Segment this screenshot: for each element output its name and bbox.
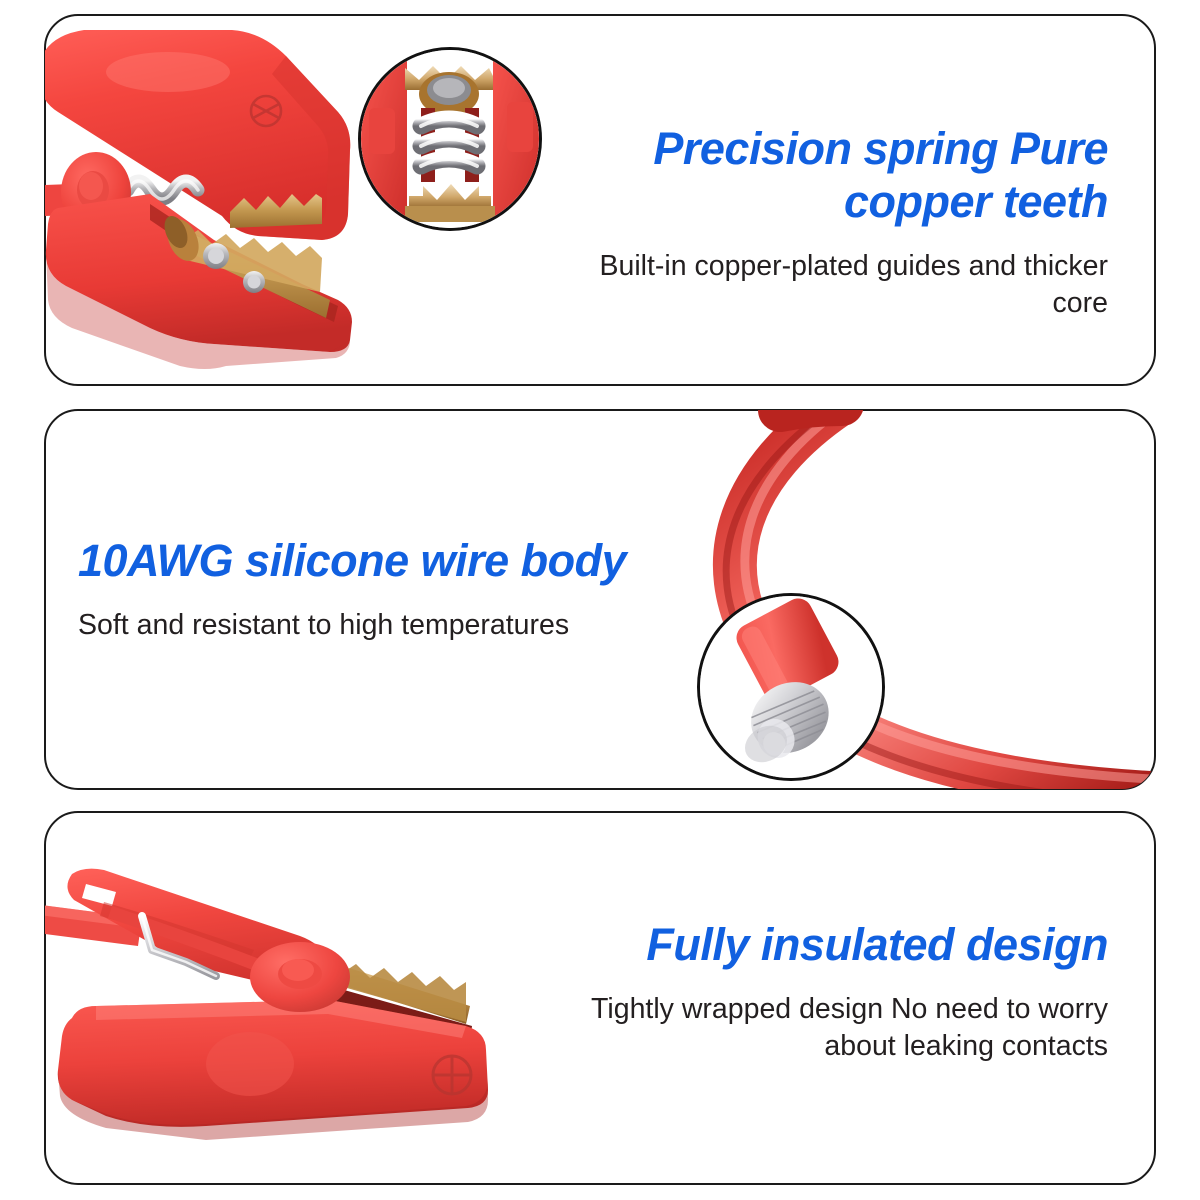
infographic-page: Precision spring Pure copper teeth Built… (0, 0, 1200, 1200)
panel-2-headline: 10AWG silicone wire body (78, 534, 700, 587)
panel-1-subline: Built-in copper-plated guides and thicke… (566, 248, 1108, 322)
panel-1-text-block: Precision spring Pure copper teeth Built… (566, 122, 1108, 322)
panel-2-text-block: 10AWG silicone wire body Soft and resist… (78, 534, 700, 644)
panel-3-text-block: Fully insulated design Tightly wrapped d… (530, 918, 1108, 1065)
spring-and-copper-teeth-closeup-inset (358, 47, 542, 231)
panel-3-subline: Tightly wrapped design No need to worry … (530, 991, 1108, 1065)
panel-2-subline: Soft and resistant to high temperatures (78, 607, 700, 644)
tinned-copper-strand-cross-section-inset (697, 593, 885, 781)
panel-3-headline: Fully insulated design (530, 918, 1108, 971)
panel-1-headline: Precision spring Pure copper teeth (566, 122, 1108, 228)
